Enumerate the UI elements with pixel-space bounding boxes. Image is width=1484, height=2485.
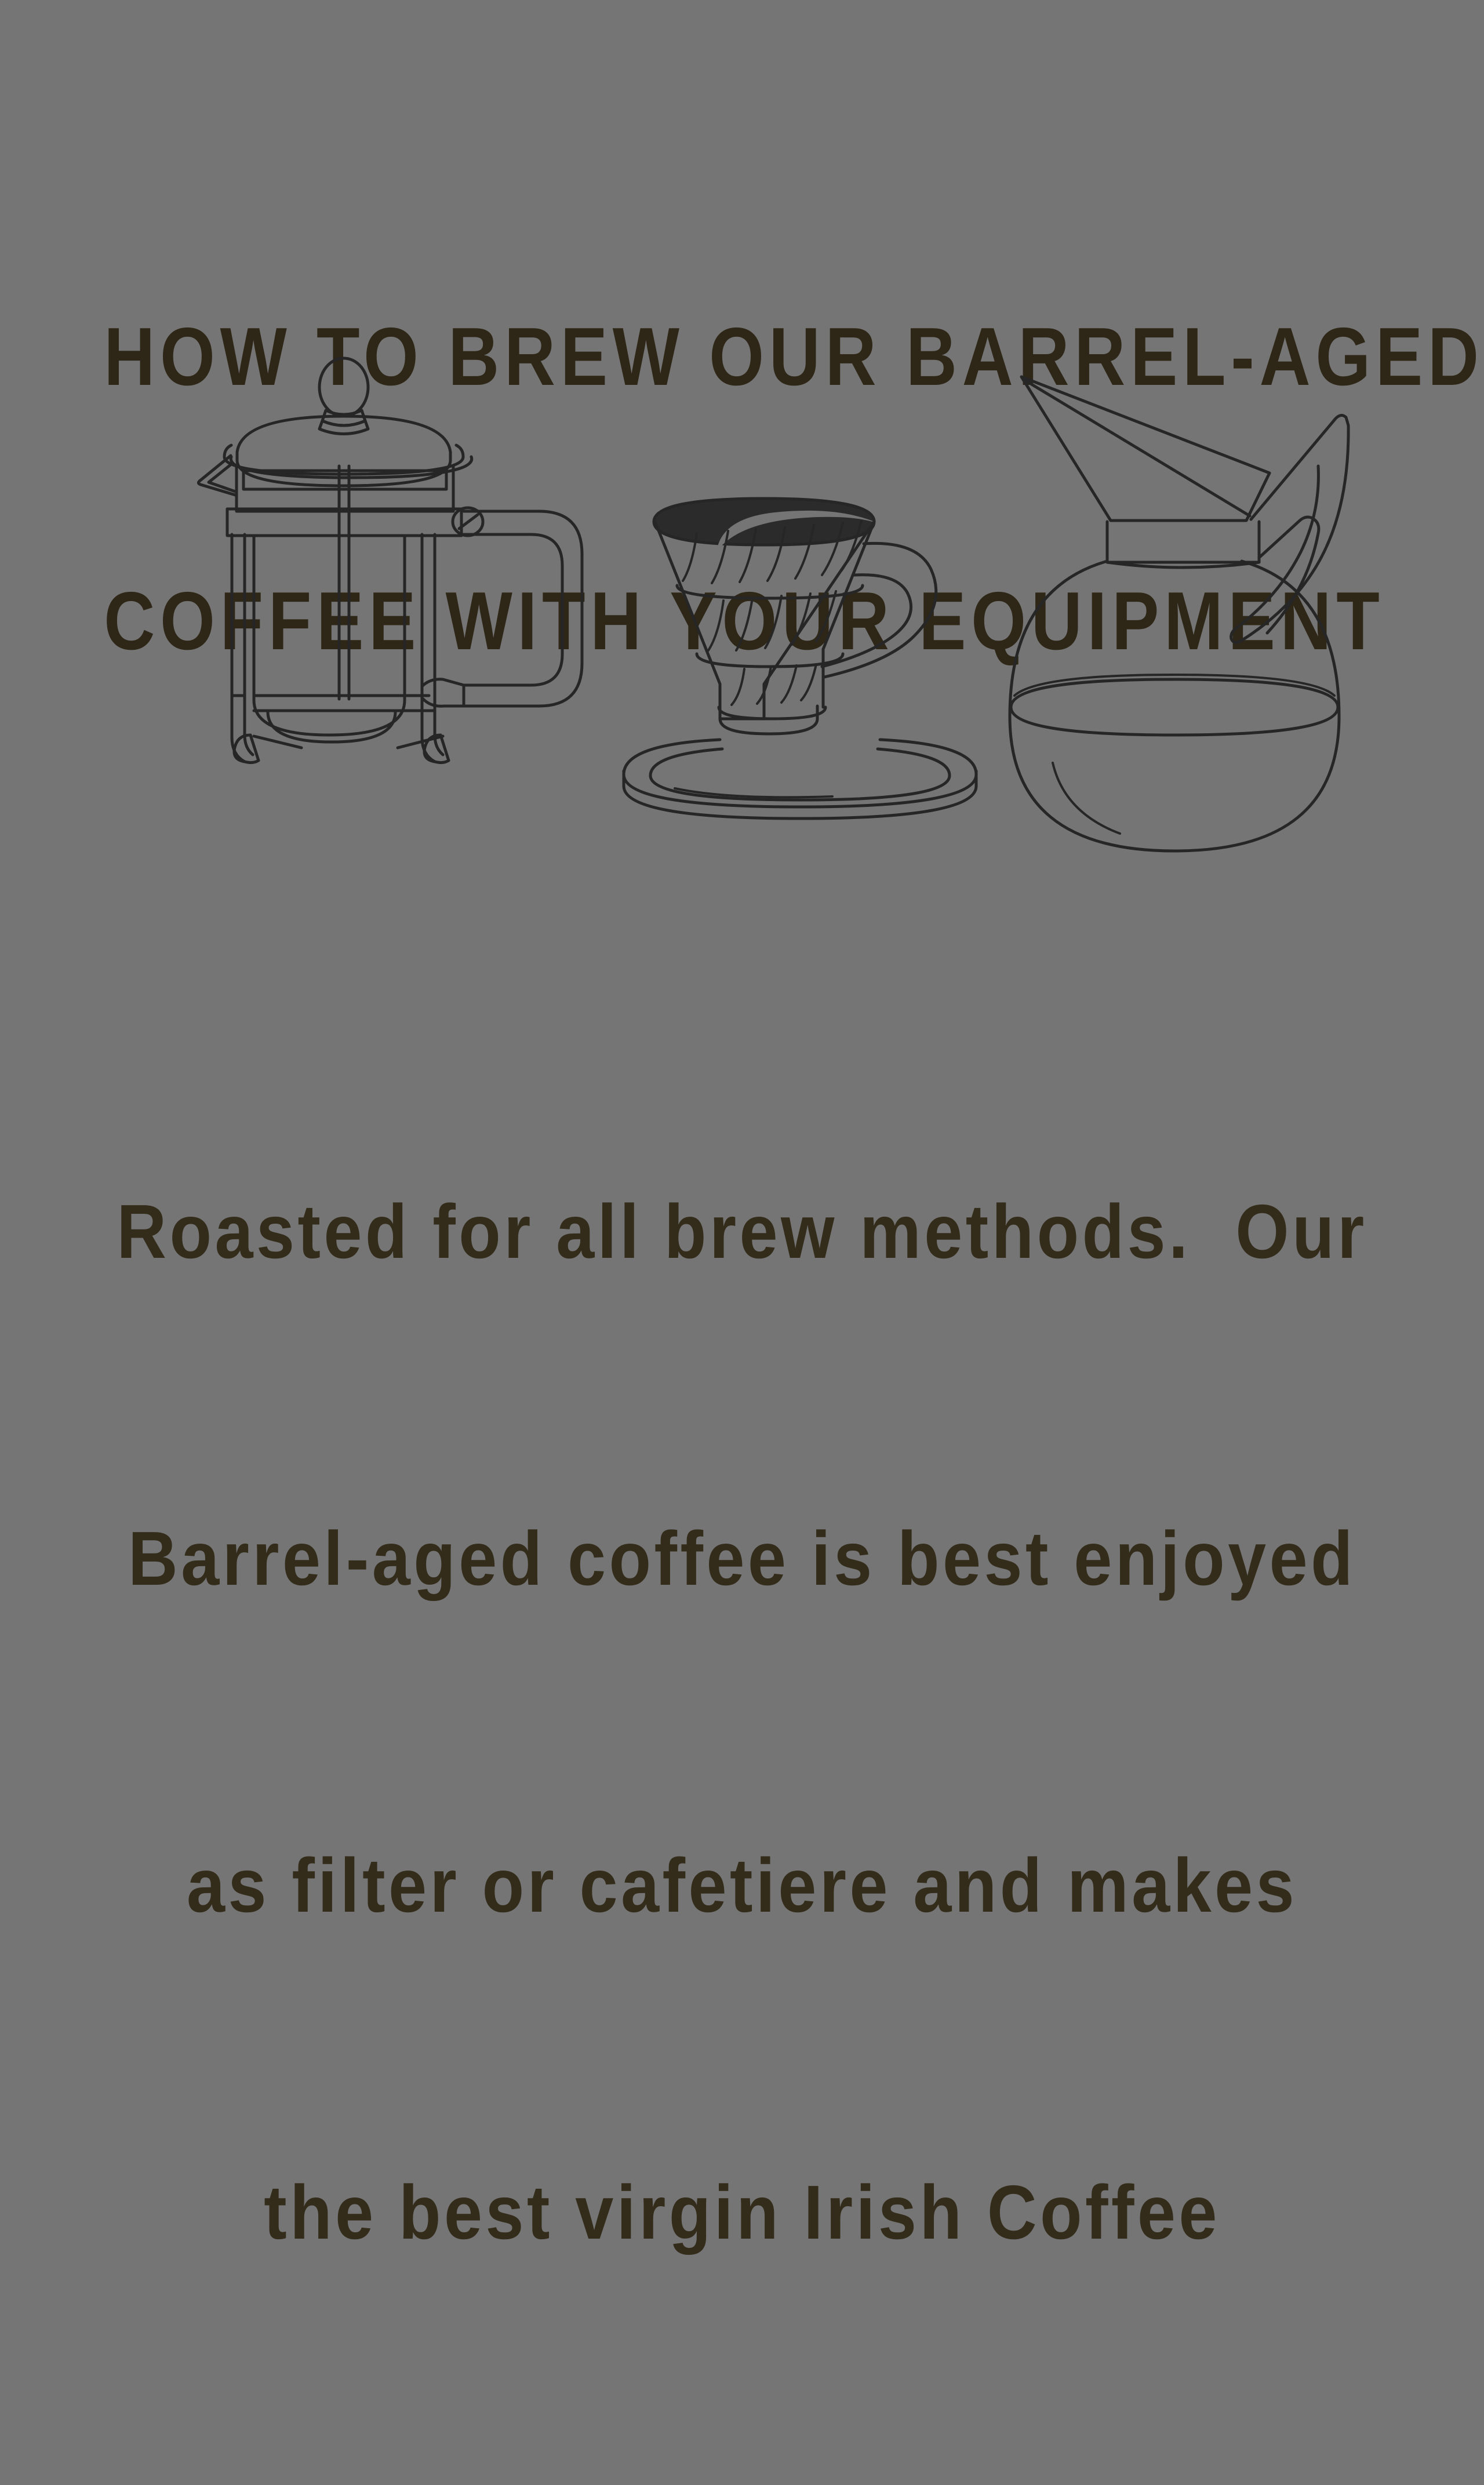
dripper-cone-body bbox=[655, 522, 874, 734]
french-press-handle bbox=[464, 511, 582, 706]
pour-over-dripper-illustration bbox=[614, 348, 985, 869]
dripper-saucer bbox=[624, 740, 976, 818]
body-paragraph: Roasted for all brew methods. Our Barrel… bbox=[74, 959, 1410, 2485]
illustration-row bbox=[0, 348, 1484, 869]
dripper-coffee-surface bbox=[654, 499, 882, 552]
body-line-2: Barrel-aged coffee is best enjoyed bbox=[74, 1504, 1410, 1613]
french-press-plunger-notch bbox=[422, 679, 464, 707]
french-press-feet bbox=[234, 735, 449, 763]
french-press-lid-knob bbox=[319, 358, 368, 434]
body-line-4: the best virgin Irish Coffee bbox=[74, 2158, 1410, 2267]
body-line-1: Roasted for all brew methods. Our bbox=[74, 1177, 1410, 1286]
french-press-glass-carafe bbox=[254, 537, 434, 742]
poster-canvas: HOW TO BREW OUR BARREL-AGED COFFEE WITH … bbox=[0, 0, 1484, 1484]
decanter-neck-collar bbox=[1107, 522, 1259, 567]
decanter-equator-ring bbox=[1011, 675, 1338, 735]
french-press-spout bbox=[198, 456, 235, 495]
decanter-base-gloss bbox=[1053, 763, 1120, 834]
french-press-collar bbox=[227, 509, 461, 536]
french-press-frame-posts bbox=[232, 534, 443, 762]
decanter-handle bbox=[1231, 415, 1348, 642]
body-line-3: as filter or cafetiere and makes bbox=[74, 1831, 1410, 1940]
coffee-decanter-illustration bbox=[997, 348, 1461, 869]
decanter-spout bbox=[1021, 377, 1270, 521]
french-press-illustration bbox=[191, 348, 620, 869]
